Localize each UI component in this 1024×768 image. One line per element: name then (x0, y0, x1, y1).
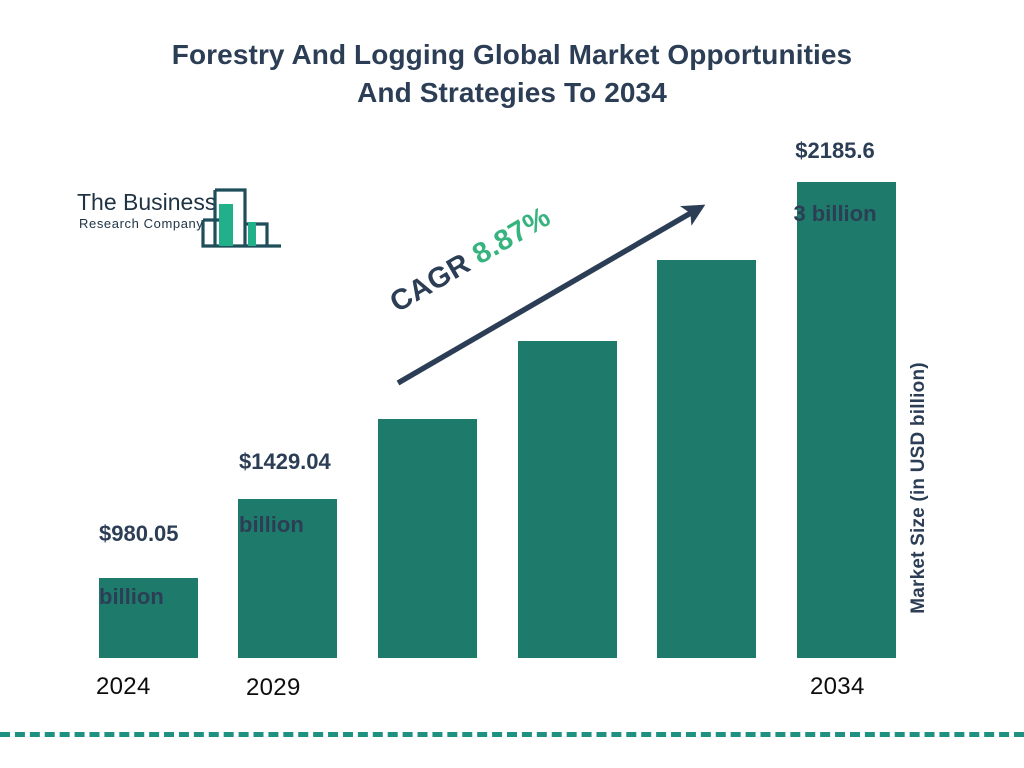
y-axis-title: Market Size (in USD billion) (908, 318, 930, 658)
chart-canvas: Forestry And Logging Global Market Oppor… (0, 0, 1024, 768)
growth-trend-arrow (0, 0, 1024, 768)
footer-divider (0, 732, 1024, 737)
